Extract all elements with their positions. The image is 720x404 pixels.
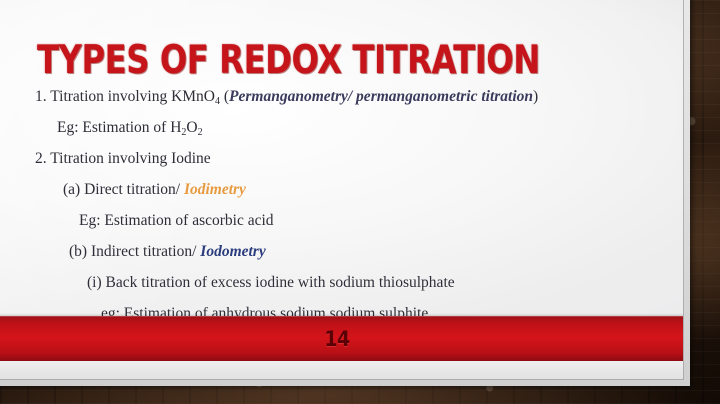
slide-line-item-2a: (a) Direct titration/ Iodimetry (0, 174, 683, 205)
text-run: Eg: Estimation of H (57, 119, 181, 136)
slide-line-item-2b: (b) Indirect titration/ Iodometry (0, 236, 683, 267)
text-run: ( (220, 88, 229, 105)
footer-underline (0, 361, 683, 379)
slide-line-item-1-example: Eg: Estimation of H2O2 (0, 112, 683, 143)
text-run: ) (533, 88, 538, 105)
emphasis-term: Iodimetry (184, 181, 246, 198)
slide-line-item-1: 1. Titration involving KMnO4 (Permangano… (0, 81, 683, 112)
emphasis-term: Permanganometry/ permanganometric titrat… (229, 88, 533, 105)
text-run: Eg: Estimation of ascorbic acid (79, 212, 274, 229)
slide-frame: TYPES OF REDOX TITRATION 1. Titration in… (0, 0, 690, 386)
text-run: (b) Indirect titration/ (69, 243, 200, 260)
text-run: 2. Titration involving Iodine (35, 150, 211, 167)
page-number: 14 (0, 327, 683, 351)
presentation-stage: TYPES OF REDOX TITRATION 1. Titration in… (0, 0, 720, 404)
slide-body-content: 1. Titration involving KMnO4 (Permangano… (0, 81, 683, 329)
footer-bar: 14 (0, 316, 683, 361)
slide-canvas: TYPES OF REDOX TITRATION 1. Titration in… (0, 0, 683, 379)
text-run: (a) Direct titration/ (63, 181, 184, 198)
slide-line-item-2: 2. Titration involving Iodine (0, 143, 683, 174)
slide-line-item-2b-i: (i) Back titration of excess iodine with… (0, 267, 683, 298)
text-run: O (186, 119, 197, 136)
page-title: TYPES OF REDOX TITRATION (37, 41, 540, 80)
emphasis-term: Iodometry (200, 243, 265, 260)
slide-line-item-2a-example: Eg: Estimation of ascorbic acid (0, 205, 683, 236)
text-run: (i) Back titration of excess iodine with… (87, 274, 455, 291)
chemical-subscript: 2 (198, 127, 203, 138)
text-run: 1. Titration involving KMnO (35, 88, 215, 105)
